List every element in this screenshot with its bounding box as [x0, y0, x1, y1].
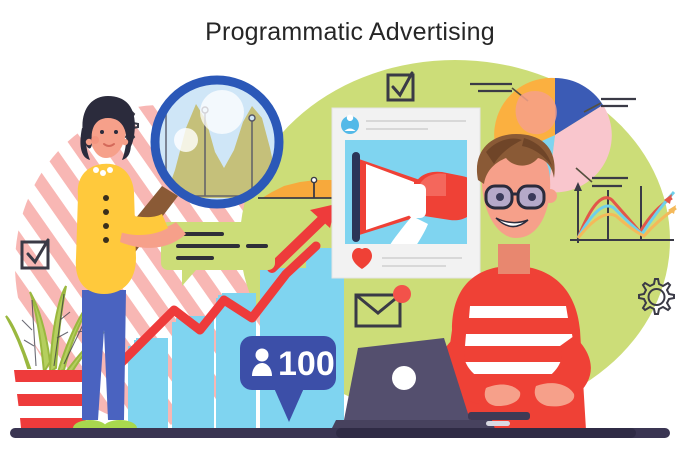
circle-logo	[392, 366, 416, 390]
illustration-canvas: Programmatic Advertising	[0, 0, 700, 450]
follower-count: 100	[278, 345, 335, 383]
illustration-svg: 100	[0, 0, 700, 450]
notification-dot-icon	[393, 285, 411, 303]
floor-line	[336, 428, 636, 438]
social-post-card	[332, 108, 480, 278]
